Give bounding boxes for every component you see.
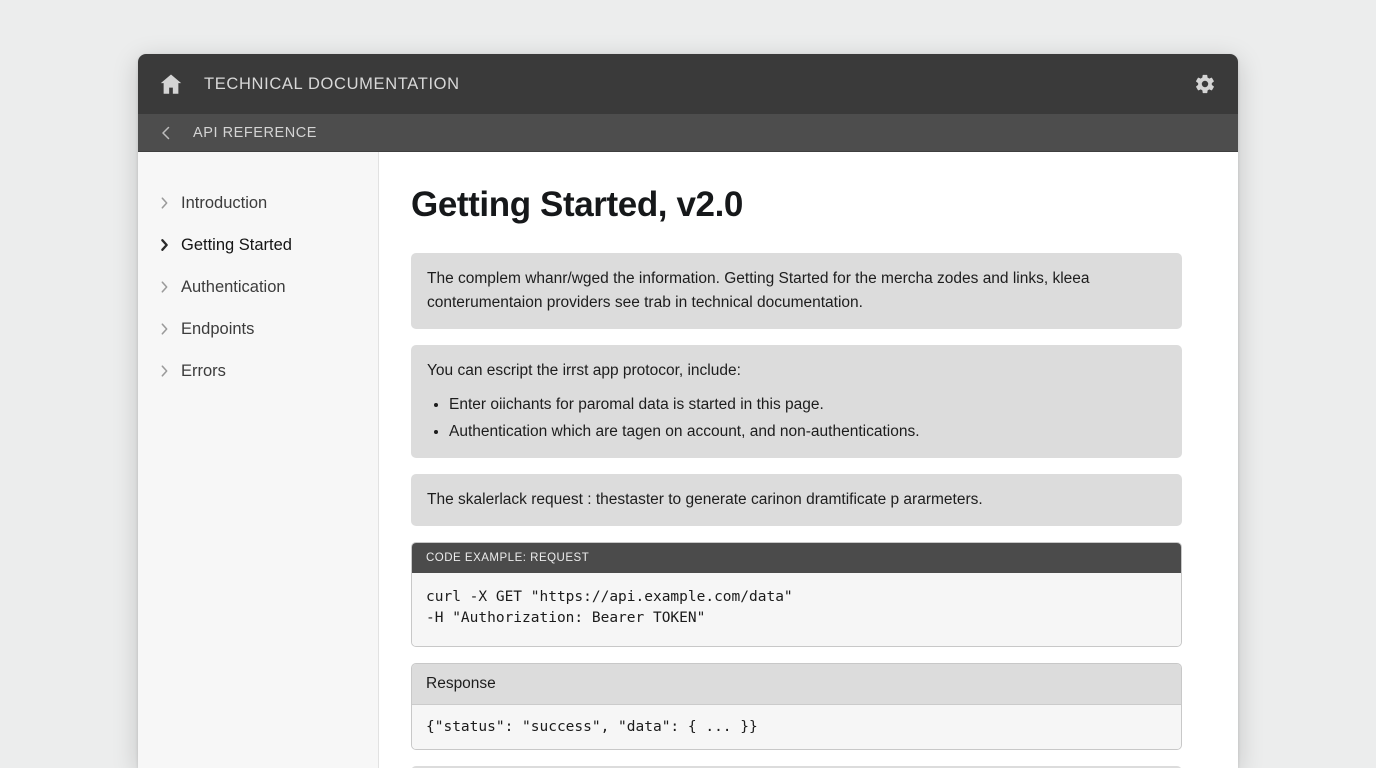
note-panel-text: The skalerlack request : thestaster to g… bbox=[427, 488, 1166, 512]
sidebar-item-label: Getting Started bbox=[181, 236, 292, 255]
list-item: Enter oiichants for paromal data is star… bbox=[449, 393, 1166, 417]
page-title: Getting Started, v2.0 bbox=[411, 186, 1182, 225]
chevron-right-icon bbox=[160, 364, 169, 378]
sidebar-item-label: Authentication bbox=[181, 278, 286, 297]
chevron-right-icon bbox=[160, 238, 169, 252]
app-title: TECHNICAL DOCUMENTATION bbox=[204, 75, 460, 94]
list-panel-items: Enter oiichants for paromal data is star… bbox=[427, 393, 1166, 444]
breadcrumb-label[interactable]: API REFERENCE bbox=[193, 125, 317, 141]
sidebar-item-errors[interactable]: Errors bbox=[138, 350, 378, 392]
chevron-left-icon[interactable] bbox=[158, 125, 174, 141]
gear-icon[interactable] bbox=[1194, 73, 1216, 95]
sidebar-item-endpoints[interactable]: Endpoints bbox=[138, 308, 378, 350]
response-card: Response {"status": "success", "data": {… bbox=[411, 663, 1182, 750]
content-area: Getting Started, v2.0 The complem whanr/… bbox=[379, 152, 1238, 768]
intro-panel: The complem whanr/wged the information. … bbox=[411, 253, 1182, 329]
response-body[interactable]: {"status": "success", "data": { ... }} bbox=[412, 705, 1181, 749]
chevron-right-icon bbox=[160, 196, 169, 210]
response-header: Response bbox=[412, 664, 1181, 705]
body-area: Introduction Getting Started Authenticat… bbox=[138, 152, 1238, 768]
app-window: TECHNICAL DOCUMENTATION API REFERENCE In… bbox=[138, 54, 1238, 768]
code-example-body[interactable]: curl -X GET "https://api.example.com/dat… bbox=[412, 573, 1181, 646]
note-panel: The skalerlack request : thestaster to g… bbox=[411, 474, 1182, 526]
sidebar-item-label: Introduction bbox=[181, 194, 267, 213]
title-bar: TECHNICAL DOCUMENTATION bbox=[138, 54, 1238, 114]
chevron-right-icon bbox=[160, 280, 169, 294]
list-panel-lead: You can escript the irrst app protocor, … bbox=[427, 359, 1166, 383]
list-panel: You can escript the irrst app protocor, … bbox=[411, 345, 1182, 458]
home-icon[interactable] bbox=[158, 71, 184, 97]
breadcrumb: API REFERENCE bbox=[138, 114, 1238, 152]
list-item: Authentication which are tagen on accoun… bbox=[449, 420, 1166, 444]
chevron-right-icon bbox=[160, 322, 169, 336]
intro-panel-text: The complem whanr/wged the information. … bbox=[427, 267, 1166, 315]
sidebar-item-introduction[interactable]: Introduction bbox=[138, 182, 378, 224]
sidebar-item-label: Endpoints bbox=[181, 320, 254, 339]
code-example-header: CODE EXAMPLE: REQUEST bbox=[412, 543, 1181, 573]
sidebar-item-authentication[interactable]: Authentication bbox=[138, 266, 378, 308]
sidebar-item-label: Errors bbox=[181, 362, 226, 381]
sidebar-item-getting-started[interactable]: Getting Started bbox=[138, 224, 378, 266]
sidebar: Introduction Getting Started Authenticat… bbox=[138, 152, 379, 768]
code-example-card: CODE EXAMPLE: REQUEST curl -X GET "https… bbox=[411, 542, 1182, 647]
